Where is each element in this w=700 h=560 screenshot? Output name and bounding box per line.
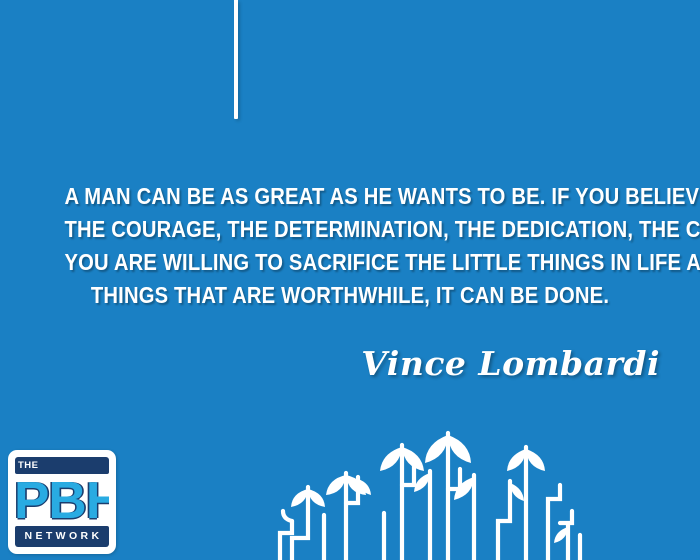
quote-line: A MAN CAN BE AS GREAT AS HE WANTS TO BE.… [64,180,635,213]
logo-the-label: THE [15,461,39,471]
logo-monogram: PBH [14,473,110,530]
quote-text-block: A MAN CAN BE AS GREAT AS HE WANTS TO BE.… [18,180,682,312]
top-vertical-rule-decoration [234,0,238,119]
quote-line: THE COURAGE, THE DETERMINATION, THE DEDI… [64,213,635,246]
pbh-network-logo[interactable]: THE PBH NETWORK [8,450,116,554]
logo-inner-frame: THE PBH NETWORK [13,455,111,549]
quote-attribution: Vince Lombardi [300,344,660,383]
logo-bottom-bar: NETWORK [15,526,109,547]
quote-line: YOU ARE WILLING TO SACRIFICE THE LITTLE … [64,246,635,279]
quote-line: THINGS THAT ARE WORTHWHILE, IT CAN BE DO… [64,279,635,312]
quote-card: A MAN CAN BE AS GREAT AS HE WANTS TO BE.… [0,0,700,560]
logo-network-label: NETWORK [21,531,102,542]
sprouts-illustration [262,425,592,560]
